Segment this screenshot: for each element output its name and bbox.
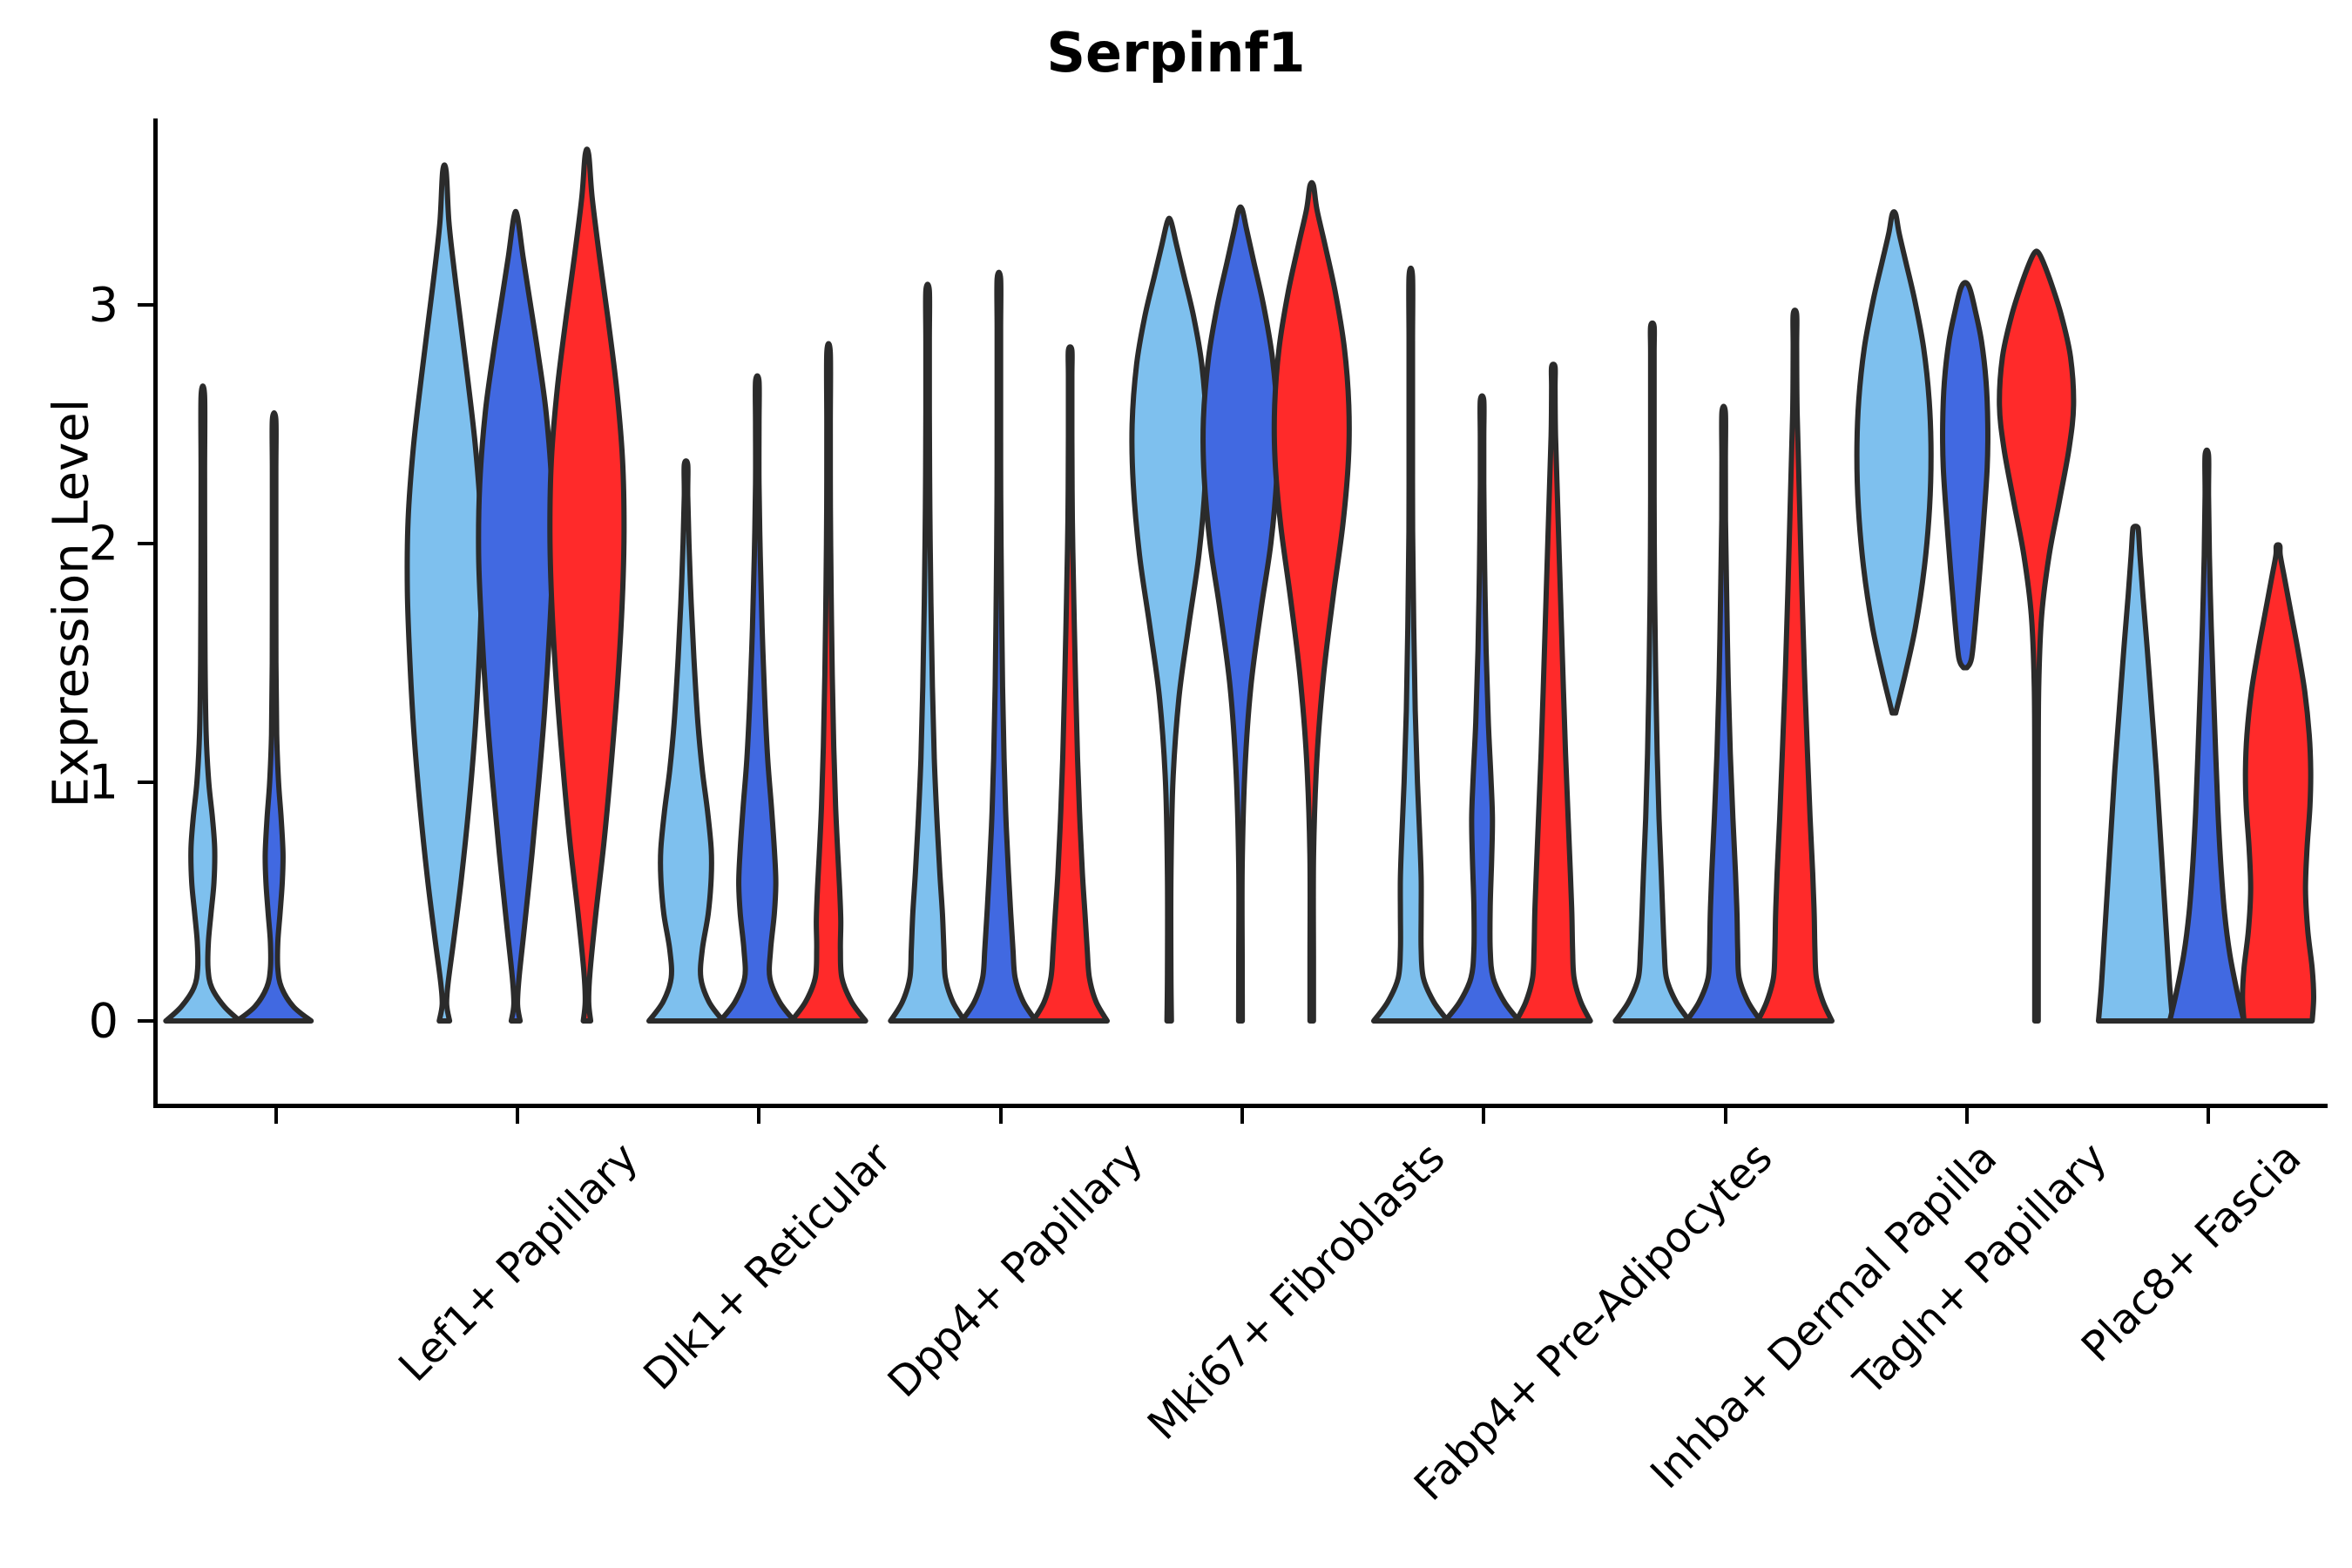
violin-shape [1274, 183, 1349, 1021]
violin-shape [2099, 526, 2173, 1021]
violin-shape [1517, 364, 1591, 1021]
violin-shape [792, 344, 866, 1021]
violin-shape [1033, 347, 1107, 1021]
violin-shape [962, 273, 1036, 1021]
violin-shape [1615, 323, 1689, 1021]
violin-shape [166, 386, 240, 1021]
violin-shape [1857, 212, 1931, 713]
violin-plot-figure: Serpinf1 Expression Level 0123 Lef1+ Pap… [0, 0, 2352, 1568]
violin-shape [237, 413, 311, 1021]
violin-shape [1374, 268, 1448, 1021]
violin-shape [1132, 219, 1206, 1021]
violin-shape [407, 165, 481, 1021]
violin-shape [890, 284, 964, 1021]
violin-shape [649, 461, 723, 1021]
violin-shape [1943, 282, 1988, 667]
violin-shape [1999, 251, 2073, 1021]
violin-shape [1203, 207, 1278, 1021]
violin-shape [1686, 406, 1761, 1021]
violin-shape [2170, 450, 2244, 1021]
plot-area [0, 0, 2352, 1568]
violin-shape [1758, 310, 1832, 1021]
violin-shape [1445, 395, 1519, 1021]
violin-shape [550, 149, 624, 1021]
violin-shape [478, 212, 552, 1021]
violin-shape [2242, 544, 2314, 1021]
violin-shape [720, 376, 794, 1021]
